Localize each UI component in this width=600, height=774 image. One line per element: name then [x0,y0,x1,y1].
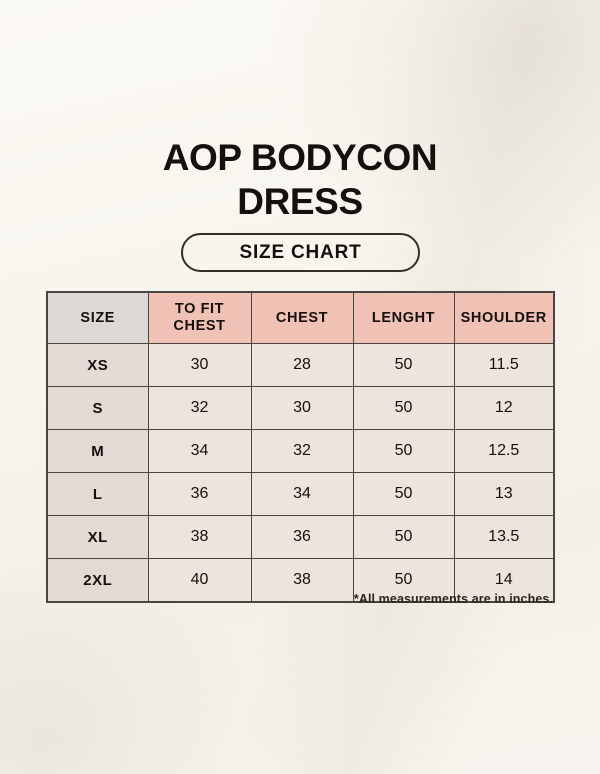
table-row: L 36 34 50 13 [47,473,554,516]
cell-shoulder: 13 [454,473,554,516]
column-header-to-fit-chest: TO FIT CHEST [148,292,251,344]
cell-shoulder: 11.5 [454,344,554,387]
cell-chest: 30 [251,387,353,430]
cell-to-fit-chest: 32 [148,387,251,430]
column-header-lenght: LENGHT [353,292,454,344]
table-header-row: SIZE TO FIT CHEST CHEST LENGHT SHOULDER [47,292,554,344]
cell-lenght: 50 [353,344,454,387]
cell-chest: 36 [251,516,353,559]
cell-shoulder: 13.5 [454,516,554,559]
column-header-chest-label: CHEST [276,310,328,326]
cell-to-fit-chest: 30 [148,344,251,387]
cell-lenght: 50 [353,516,454,559]
size-chart-badge-label: SIZE CHART [240,242,362,264]
column-header-size: SIZE [47,292,148,344]
table-row: XS 30 28 50 11.5 [47,344,554,387]
cell-to-fit-chest: 36 [148,473,251,516]
cell-shoulder: 12 [454,387,554,430]
column-header-to-fit-chest-line2: CHEST [173,318,225,334]
measurements-footnote: *All measurements are in inches. [46,592,553,606]
cell-chest: 28 [251,344,353,387]
column-header-size-label: SIZE [80,310,115,326]
column-header-shoulder-label: SHOULDER [461,310,547,326]
cell-size: XS [47,344,148,387]
column-header-shoulder: SHOULDER [454,292,554,344]
column-header-chest: CHEST [251,292,353,344]
page-title: AOP BODYCON DRESS [0,136,600,224]
column-header-lenght-label: LENGHT [372,310,435,326]
cell-lenght: 50 [353,430,454,473]
cell-chest: 34 [251,473,353,516]
cell-shoulder: 12.5 [454,430,554,473]
size-chart-table: SIZE TO FIT CHEST CHEST LENGHT SHOULDER [46,291,555,603]
cell-size: L [47,473,148,516]
size-table-container: SIZE TO FIT CHEST CHEST LENGHT SHOULDER [46,291,553,603]
cell-lenght: 50 [353,387,454,430]
cell-to-fit-chest: 34 [148,430,251,473]
table-row: XL 38 36 50 13.5 [47,516,554,559]
cell-size: S [47,387,148,430]
cell-size: XL [47,516,148,559]
cell-chest: 32 [251,430,353,473]
cell-size: M [47,430,148,473]
table-row: M 34 32 50 12.5 [47,430,554,473]
table-row: S 32 30 50 12 [47,387,554,430]
cell-to-fit-chest: 38 [148,516,251,559]
size-chart-badge: SIZE CHART [181,233,420,272]
cell-lenght: 50 [353,473,454,516]
column-header-to-fit-chest-line1: TO FIT [175,301,224,317]
